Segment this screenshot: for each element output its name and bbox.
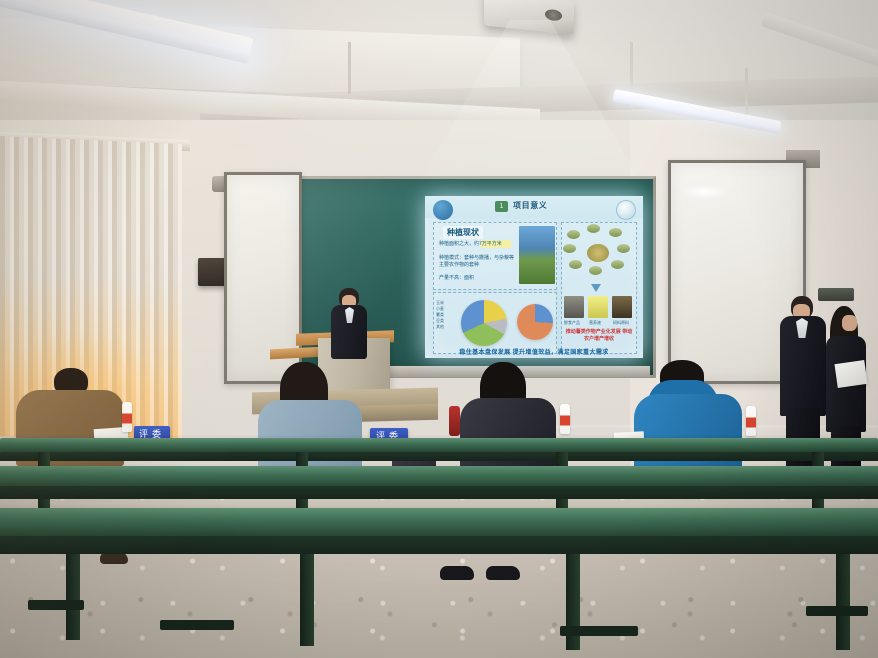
slide-bullet: 种植模式：套种与撒播，与杂粮等主要农作物的套种 (439, 255, 515, 269)
pie-legend: 玉米 小麦 薯类 豆类 其他 (436, 300, 444, 330)
classroom-presentation-photo: 1 项目意义 种植现状 种植面积之大，约7万平方米 种植模式：套种与撒播，与杂粮… (0, 0, 878, 658)
pie-legend-item: 其他 (436, 324, 444, 330)
whiteboard-glare (679, 185, 731, 199)
desk-apron (0, 452, 878, 461)
slide-title: 项目意义 (513, 200, 547, 211)
ring-node-icon (563, 244, 576, 253)
desk-foot (28, 600, 84, 610)
slide-section-badge: 1 (495, 201, 508, 212)
desk-apron (0, 486, 878, 499)
water-bottle-icon (560, 404, 570, 434)
red-callout-line: 推动薯类作物产业化发展 (566, 329, 621, 335)
product-photo (588, 296, 608, 318)
projected-slide: 1 项目意义 种植现状 种植面积之大，约7万平方米 种植模式：套种与撒播，与杂粮… (425, 196, 643, 358)
product-ring-diagram (565, 226, 631, 280)
product-photo-caption: 鲜食产品 (564, 320, 580, 326)
product-photo-caption: 营养液 (589, 320, 601, 326)
water-bottle-icon (122, 402, 132, 432)
ring-node-icon (611, 260, 624, 269)
light-hanger-rod (348, 42, 351, 94)
desk-foot (806, 606, 868, 616)
slide-footer: 稳住基本盘保发展 提升增值效益，满足国家重大需求 (425, 347, 643, 356)
product-photo (612, 296, 632, 318)
slide-bullet: 产量不高：面积 (439, 275, 499, 282)
desk-foot (160, 620, 234, 630)
held-paper (834, 360, 867, 388)
ring-node-icon (569, 260, 582, 269)
shoe (486, 566, 520, 580)
slide-section-heading: 种植现状 (443, 226, 483, 239)
ring-center-icon (587, 244, 609, 262)
shoe (440, 566, 474, 580)
ring-node-icon (609, 228, 622, 237)
presenter (322, 288, 374, 358)
slide-bullet: 种植面积之大，约7万平方米 (439, 241, 515, 248)
slide-red-callout: 推动薯类作物产业化发展 带动农户增产增收 (565, 329, 633, 343)
desk-leg (66, 554, 80, 640)
ring-node-icon (567, 230, 580, 239)
thermos-cup-icon (449, 406, 460, 436)
product-photo (564, 296, 584, 318)
desk-surface (0, 466, 878, 488)
pie-chart-yield-share (517, 304, 553, 340)
desk-leg (300, 554, 314, 646)
desk-apron (0, 536, 878, 554)
product-photo-caption: 饲料原料 (613, 320, 629, 326)
desk-surface (0, 508, 878, 538)
slide-logo-icon (433, 200, 453, 220)
pie-chart-planting-structure (461, 300, 507, 346)
ring-node-icon (617, 244, 630, 253)
slide-watermark-icon (616, 200, 636, 220)
desk-leg (836, 554, 850, 650)
water-bottle-icon (746, 406, 756, 436)
projector-lens-icon (545, 9, 562, 22)
desk-foot (560, 626, 638, 636)
down-arrow-icon (591, 284, 601, 292)
ring-node-icon (589, 266, 602, 275)
desk-surface (0, 438, 878, 453)
ring-node-icon (587, 224, 600, 233)
face (842, 315, 857, 331)
slide-field-photo (519, 226, 555, 284)
light-hanger-rod (745, 68, 748, 114)
